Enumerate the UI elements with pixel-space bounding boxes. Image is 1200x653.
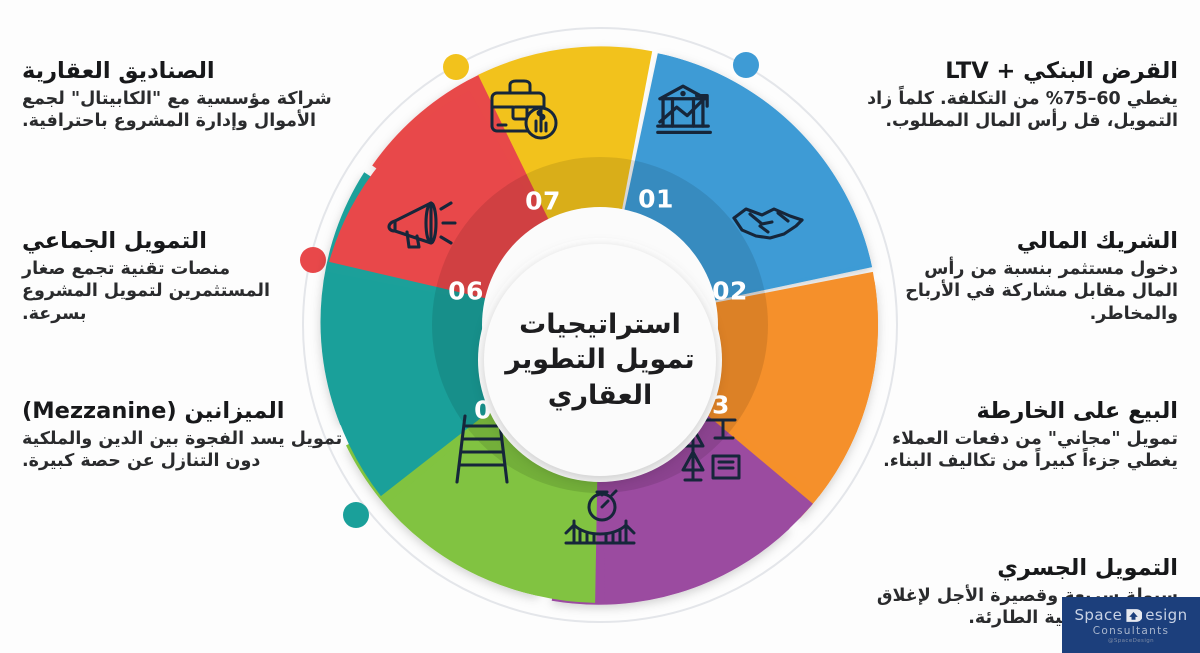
callout-03-desc: تمويل "مجاني" من دفعات العملاء يغطي جزءا…: [868, 428, 1178, 473]
callout-05-title: الميزانين (Mezzanine): [22, 398, 352, 424]
callout-07-desc: شراكة مؤسسية مع "الكابيتال" لجمع الأموال…: [22, 88, 342, 133]
segment-number-07: 07: [525, 187, 561, 216]
callout-05: الميزانين (Mezzanine) تمويل يسد الفجوة ب…: [22, 398, 352, 473]
callout-04-title: التمويل الجسري: [858, 555, 1178, 581]
callout-01: القرض البنكي + LTV يغطي 60–75% من التكلف…: [858, 58, 1178, 133]
infographic-canvas: 01 02 03 04 05 06 07 استراتيجيات تمويل ا…: [0, 0, 1200, 653]
callout-01-desc: يغطي 60–75% من التكلفة. كلماً زاد التموي…: [858, 88, 1178, 133]
segment-number-02: 02: [712, 277, 748, 306]
callout-03-title: البيع على الخارطة: [868, 398, 1178, 424]
accent-dot-yellow: [443, 54, 469, 80]
center-title: استراتيجيات تمويل التطوير العقاري: [484, 307, 716, 414]
segment-number-01: 01: [638, 185, 674, 214]
callout-06-desc: منصات تقنية تجمع صغار المستثمرين لتمويل …: [22, 258, 332, 325]
logo-brand-row: Space esign: [1075, 606, 1188, 624]
logo-brand-right: esign: [1145, 606, 1187, 624]
callout-05-desc: تمويل يسد الفجوة بين الدين والملكية دون …: [22, 428, 352, 473]
accent-dot-blue: [733, 52, 759, 78]
callout-06-title: التمويل الجماعي: [22, 228, 332, 254]
accent-dot-teal: [343, 502, 369, 528]
callout-06: التمويل الجماعي منصات تقنية تجمع صغار ال…: [22, 228, 332, 325]
logo-subtitle: Consultants: [1093, 625, 1170, 637]
callout-01-title: القرض البنكي + LTV: [858, 58, 1178, 84]
segment-number-06: 06: [448, 277, 484, 306]
callout-07-title: الصناديق العقارية: [22, 58, 342, 84]
callout-03: البيع على الخارطة تمويل "مجاني" من دفعات…: [868, 398, 1178, 473]
callout-02-title: الشريك المالي: [878, 228, 1178, 254]
callout-02-desc: دخول مستثمر بنسبة من رأس المال مقابل مشا…: [878, 258, 1178, 325]
logo-tagline: @SpaceDesign: [1108, 638, 1154, 644]
logo-space-design-consultants: Space esign Consultants @SpaceDesign: [1062, 597, 1200, 653]
center-hub: استراتيجيات تمويل التطوير العقاري: [484, 244, 716, 476]
logo-brand-left: Space: [1075, 606, 1123, 624]
callout-07: الصناديق العقارية شراكة مؤسسية مع "الكاب…: [22, 58, 342, 133]
callout-02: الشريك المالي دخول مستثمر بنسبة من رأس ا…: [878, 228, 1178, 325]
house-d-mark-icon: [1125, 607, 1142, 624]
